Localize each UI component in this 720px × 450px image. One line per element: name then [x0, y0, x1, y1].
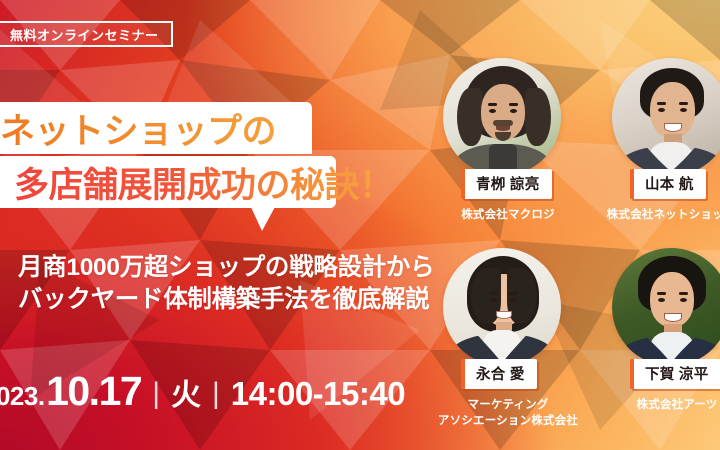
title-row-2: 多店舗展開成功の秘訣！	[0, 156, 336, 208]
title-row-1: ネットショップの	[0, 102, 312, 154]
schedule-year: 2023	[0, 381, 38, 412]
speaker-name-4: 下賀 涼平	[630, 359, 720, 389]
speaker-company-1: 株式会社マクロジ	[437, 208, 579, 224]
speaker-company-3-line-2: アソシエーション株式会社	[437, 414, 579, 430]
subtitle-line-1: 月商1000万超ショップの戦略設計から	[18, 252, 448, 284]
speaker-photo-1	[443, 58, 561, 176]
speaker-photo-4	[612, 248, 720, 366]
title-line-1: ネットショップの	[0, 103, 276, 154]
schedule-row: 2023 . 10.17 | 火 | 14:00-15:40	[0, 368, 405, 415]
speaker-company-1-line-1: 株式会社マクロジ	[437, 208, 579, 224]
title-speech-bubble: ネットショップの 多店舗展開成功の秘訣！	[0, 102, 320, 208]
speaker-name-3: 永合 愛	[461, 359, 537, 389]
speaker-photo-3	[443, 248, 561, 366]
schedule-day-of-week: 火	[171, 370, 201, 414]
schedule-separator-2: |	[212, 377, 220, 411]
speaker-name-2: 山本 航	[630, 169, 706, 199]
schedule-dot: .	[38, 381, 45, 412]
speaker-company-2-line-1: 株式会社ネットショップ支	[606, 208, 720, 224]
speaker-card-1: 青栁 諒亮 株式会社マクロジ	[443, 58, 573, 224]
speaker-card-2: 山本 航 株式会社ネットショップ支	[612, 58, 720, 224]
speaker-company-3-line-1: マーケティング	[437, 398, 579, 414]
speaker-card-4: 下賀 涼平 株式会社アーツ	[612, 248, 720, 414]
speaker-company-3: マーケティング アソシエーション株式会社	[437, 398, 579, 429]
speaker-company-2: 株式会社ネットショップ支	[606, 208, 720, 224]
speaker-company-4-line-1: 株式会社アーツ	[606, 398, 720, 414]
free-seminar-badge: 無料オンラインセミナー	[0, 21, 173, 47]
schedule-separator-1: |	[152, 377, 160, 411]
schedule-time: 14:00-15:40	[231, 375, 405, 413]
speaker-photo-2	[612, 58, 720, 176]
speaker-company-4: 株式会社アーツ	[606, 398, 720, 414]
speaker-name-1: 青栁 諒亮	[461, 169, 552, 199]
speaker-card-3: 永合 愛 マーケティング アソシエーション株式会社	[443, 248, 573, 429]
schedule-month-day: 10.17	[46, 368, 141, 415]
subtitle-line-2: バックヤード体制構築手法を徹底解説	[18, 284, 448, 316]
speech-bubble-tail	[250, 205, 276, 231]
free-seminar-badge-label: 無料オンラインセミナー	[10, 25, 159, 44]
webinar-banner: 無料オンラインセミナー ネットショップの 多店舗展開成功の秘訣！ 月商1000万…	[0, 0, 720, 450]
title-line-2: 多店舗展開成功の秘訣！	[14, 157, 394, 208]
subtitle: 月商1000万超ショップの戦略設計から バックヤード体制構築手法を徹底解説	[18, 252, 448, 317]
